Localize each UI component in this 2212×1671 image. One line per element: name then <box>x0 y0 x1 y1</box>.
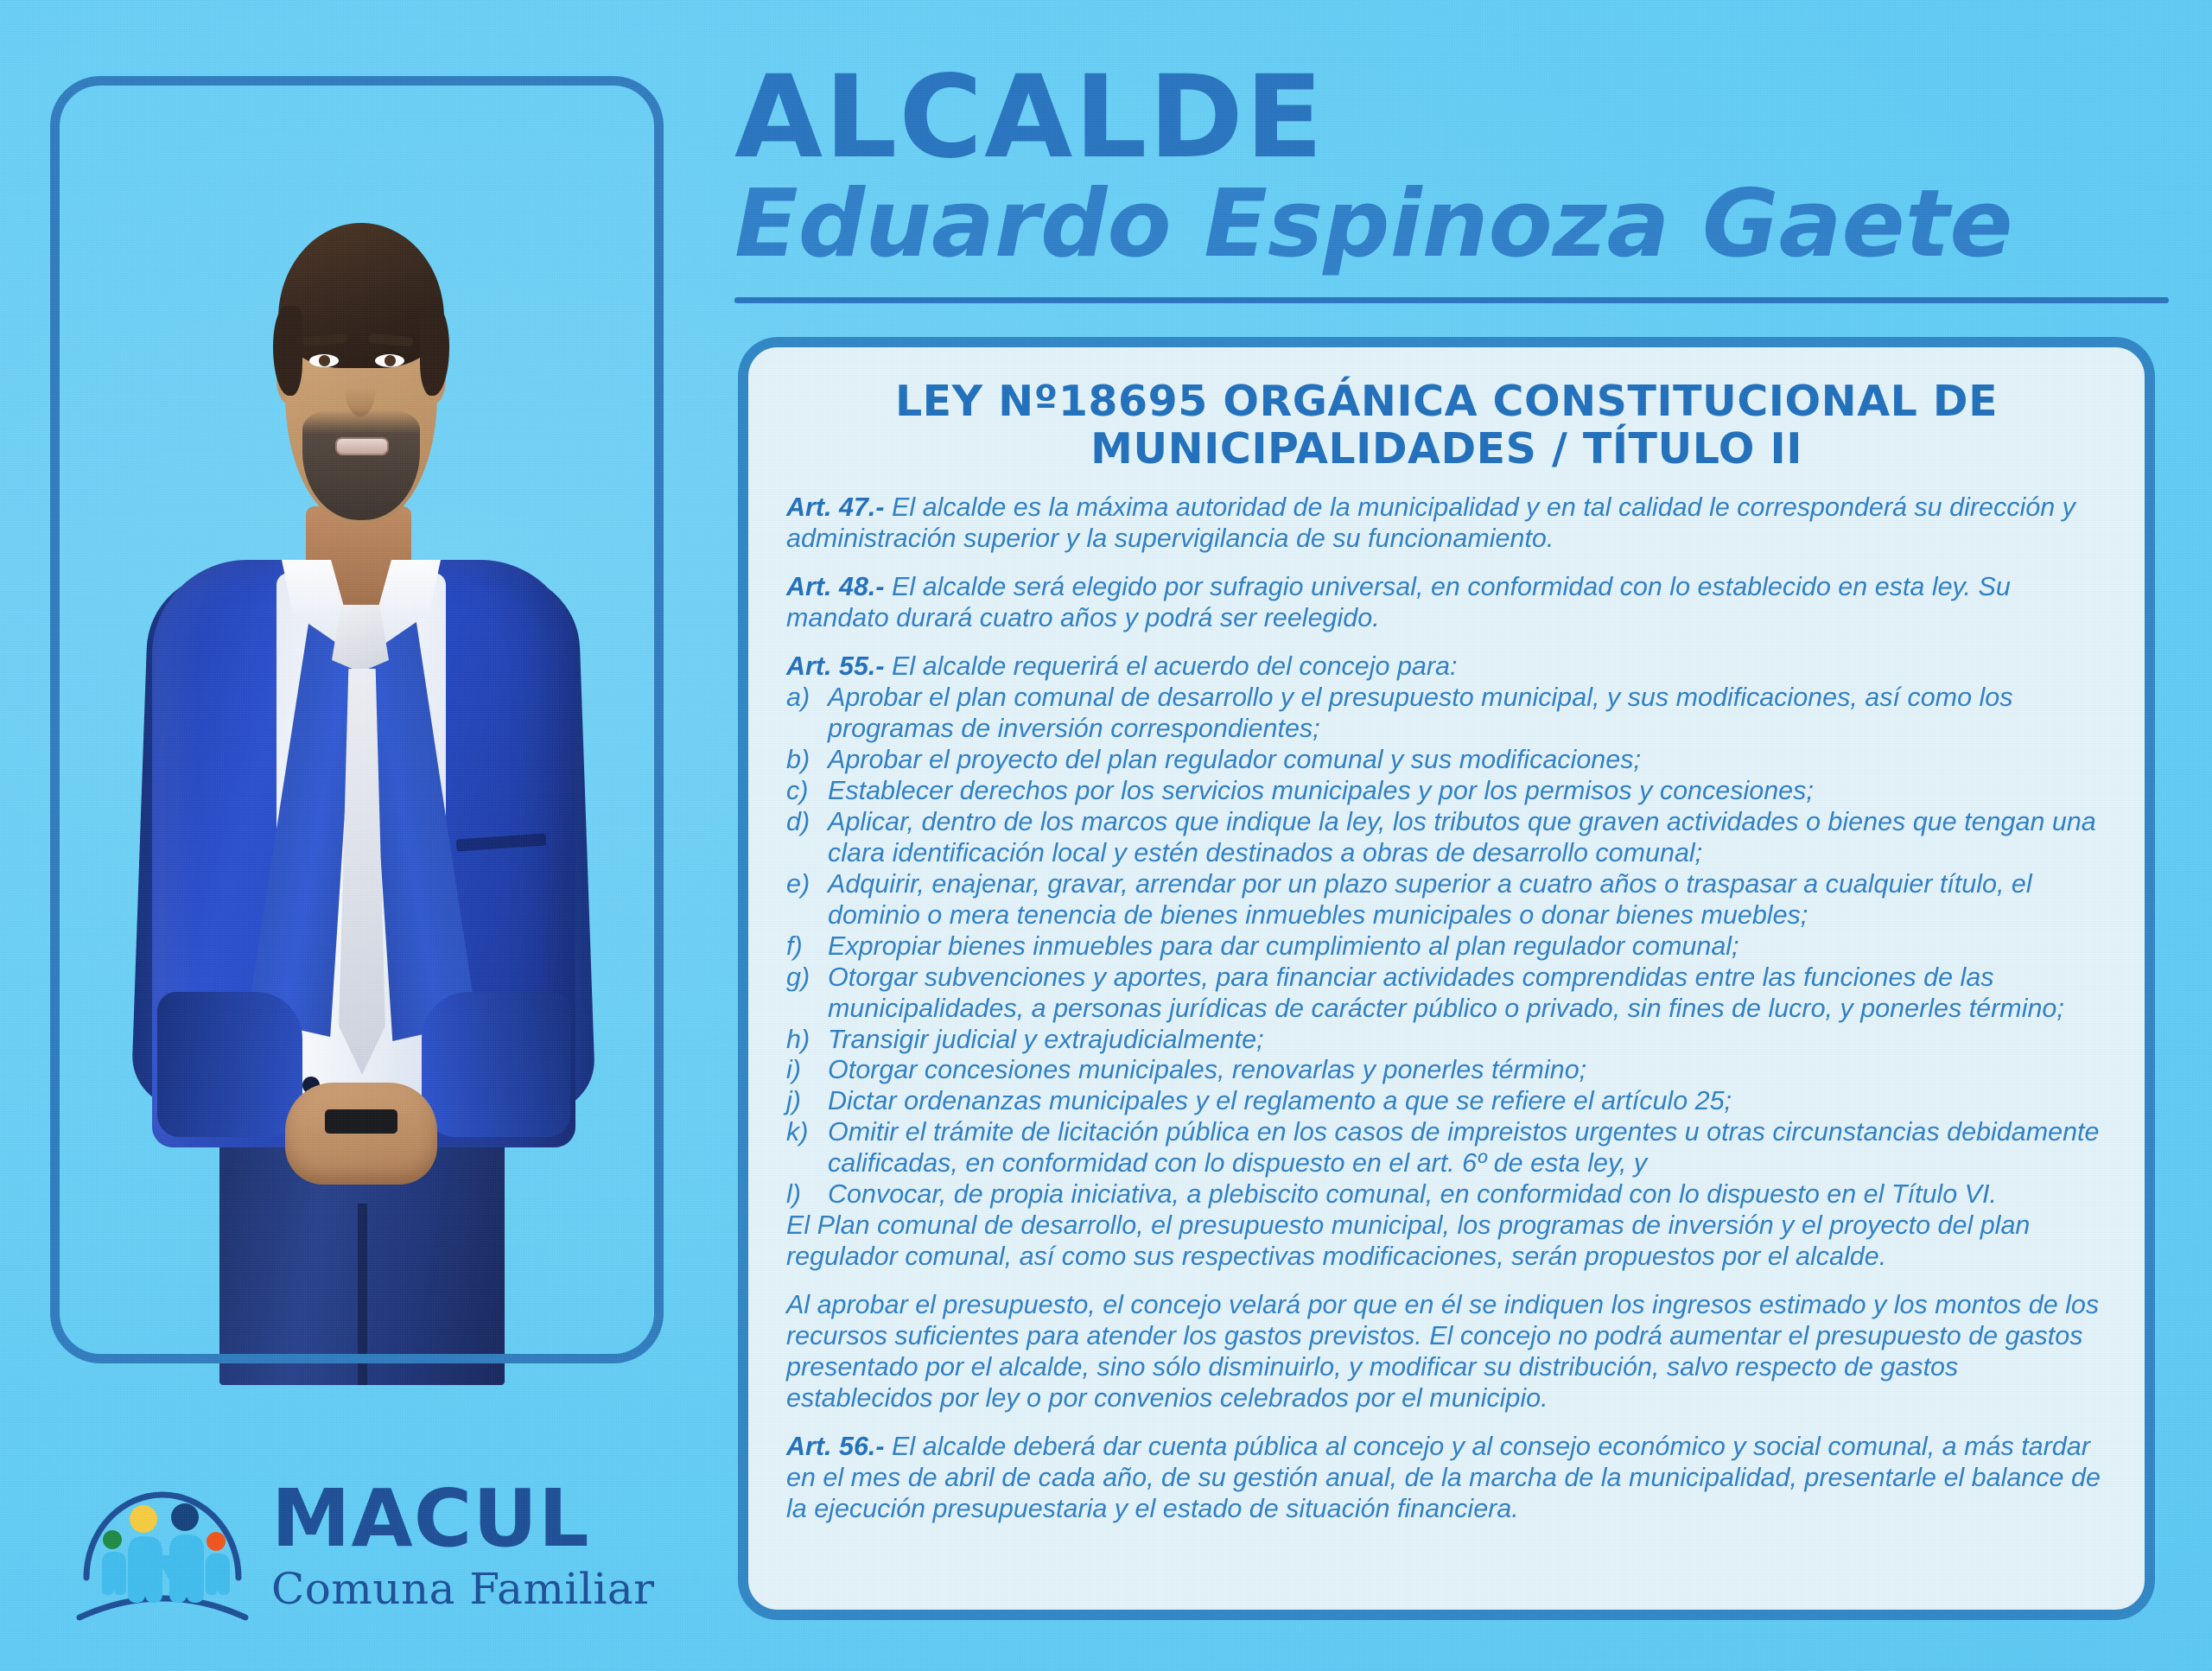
macul-logo-text: MACUL Comuna Familiar <box>271 1479 655 1611</box>
list-item: j)Dictar ordenanzas municipales y el reg… <box>786 1086 2107 1117</box>
list-item: a)Aprobar el plan comunal de desarrollo … <box>786 683 2107 745</box>
list-item: d)Aplicar, dentro de los marcos que indi… <box>786 807 2107 869</box>
law-title-line-2: MUNICIPALIDADES / TÍTULO II <box>786 426 2107 473</box>
article-55-intro: Art. 55.- El alcalde requerirá el acuerd… <box>786 651 2107 683</box>
role-title: ALCALDE <box>734 60 2169 175</box>
article-47: Art. 47.- El alcalde es la máxima autori… <box>786 492 2107 555</box>
article-56-label: Art. 56.- <box>786 1432 885 1461</box>
list-item-text: Transigir judicial y extrajudicialmente; <box>828 1025 2107 1056</box>
title-block: ALCALDE Eduardo Espinoza Gaete <box>726 60 2177 303</box>
list-item-marker: h) <box>786 1025 828 1056</box>
list-item-marker: d) <box>786 807 828 869</box>
article-55-item-list: a)Aprobar el plan comunal de desarrollo … <box>786 683 2107 1211</box>
article-56: Art. 56.- El alcalde deberá dar cuenta p… <box>786 1432 2107 1525</box>
article-55-intro-text: El alcalde requerirá el acuerdo del conc… <box>885 651 1458 681</box>
list-item-marker: f) <box>786 931 828 963</box>
list-item-marker: j) <box>786 1086 828 1117</box>
list-item: b)Aprobar el proyecto del plan regulador… <box>786 745 2107 776</box>
macul-logo-mark <box>76 1458 249 1631</box>
list-item-text: Otorgar concesiones municipales, renovar… <box>828 1055 2107 1086</box>
list-item-text: Aprobar el proyecto del plan regulador c… <box>828 745 2107 776</box>
list-item-marker: i) <box>786 1055 828 1086</box>
list-item-text: Aprobar el plan comunal de desarrollo y … <box>828 683 2107 745</box>
list-item: f)Expropiar bienes inmuebles para dar cu… <box>786 931 2107 963</box>
list-item-marker: b) <box>786 745 828 776</box>
list-item: l)Convocar, de propia iniciativa, a pleb… <box>786 1179 2107 1210</box>
list-item: e)Adquirir, enajenar, gravar, arrendar p… <box>786 869 2107 931</box>
mayor-name: Eduardo Espinoza Gaete <box>734 178 2169 271</box>
list-item-text: Establecer derechos por los servicios mu… <box>828 776 2107 807</box>
list-item-marker: l) <box>786 1179 828 1210</box>
list-item: h)Transigir judicial y extrajudicialment… <box>786 1025 2107 1056</box>
article-56-text: El alcalde deberá dar cuenta pública al … <box>786 1432 2101 1523</box>
macul-logo-subtitle: Comuna Familiar <box>271 1567 655 1611</box>
article-48-label: Art. 48.- <box>786 572 885 601</box>
poster-root: MACUL Comuna Familiar ALCALDE Eduardo Es… <box>0 0 2212 1671</box>
article-55-label: Art. 55.- <box>786 651 885 681</box>
macul-logo: MACUL Comuna Familiar <box>76 1452 681 1637</box>
list-item-text: Omitir el trámite de licitación pública … <box>828 1117 2107 1179</box>
list-item-text: Otorgar subvenciones y aportes, para fin… <box>828 963 2107 1025</box>
title-divider <box>734 297 2169 303</box>
list-item-text: Dictar ordenanzas municipales y el regla… <box>828 1086 2107 1117</box>
list-item-text: Aplicar, dentro de los marcos que indiqu… <box>828 807 2107 869</box>
list-item-marker: c) <box>786 776 828 807</box>
list-item-marker: g) <box>786 963 828 1025</box>
law-title-line-1: LEY Nº18695 ORGÁNICA CONSTITUCIONAL DE <box>786 378 2107 426</box>
macul-logo-title: MACUL <box>271 1479 655 1559</box>
law-card: LEY Nº18695 ORGÁNICA CONSTITUCIONAL DE M… <box>738 337 2155 1620</box>
article-47-label: Art. 47.- <box>786 492 885 522</box>
list-item-marker: k) <box>786 1117 828 1179</box>
law-card-title: LEY Nº18695 ORGÁNICA CONSTITUCIONAL DE M… <box>786 378 2107 473</box>
article-55-closing-1: El Plan comunal de desarrollo, el presup… <box>786 1210 2107 1273</box>
list-item: k)Omitir el trámite de licitación públic… <box>786 1117 2107 1179</box>
list-item-text: Expropiar bienes inmuebles para dar cump… <box>828 931 2107 963</box>
list-item-text: Convocar, de propia iniciativa, a plebis… <box>828 1179 2107 1210</box>
article-55-closing-2: Al aprobar el presupuesto, el concejo ve… <box>786 1290 2107 1414</box>
photo-frame-border <box>50 76 664 1363</box>
right-column: ALCALDE Eduardo Espinoza Gaete LEY Nº186… <box>726 60 2177 1624</box>
list-item-marker: e) <box>786 869 828 931</box>
article-47-text: El alcalde es la máxima autoridad de la … <box>786 492 2075 553</box>
list-item-marker: a) <box>786 683 828 745</box>
list-item: g)Otorgar subvenciones y aportes, para f… <box>786 963 2107 1025</box>
list-item: i)Otorgar concesiones municipales, renov… <box>786 1055 2107 1086</box>
law-card-body: Art. 47.- El alcalde es la máxima autori… <box>786 492 2107 1526</box>
list-item-text: Adquirir, enajenar, gravar, arrendar por… <box>828 869 2107 931</box>
article-48: Art. 48.- El alcalde será elegido por su… <box>786 572 2107 634</box>
article-48-text: El alcalde será elegido por sufragio uni… <box>786 572 2011 632</box>
list-item: c)Establecer derechos por los servicios … <box>786 776 2107 807</box>
